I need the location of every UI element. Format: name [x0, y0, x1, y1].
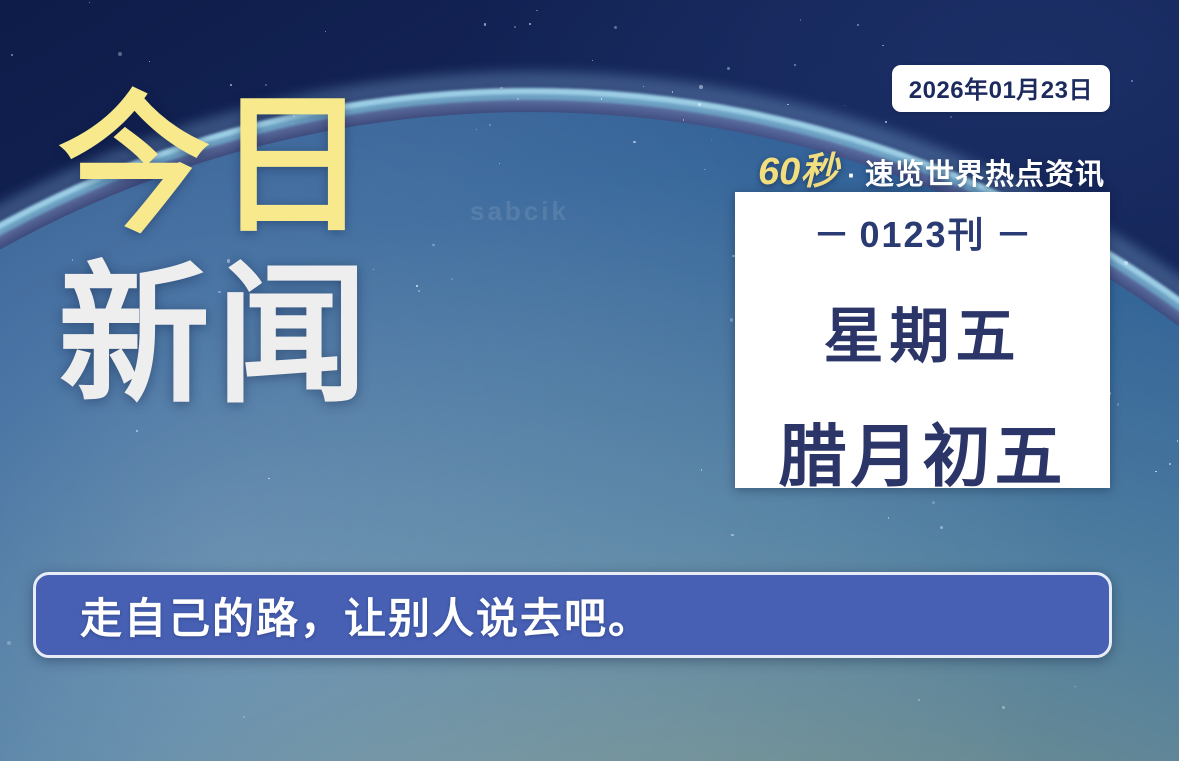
- star-dot: [885, 121, 887, 123]
- star-dot: [500, 87, 502, 89]
- star-dot: [643, 86, 644, 87]
- star-dot: [857, 24, 859, 26]
- star-dot: [536, 10, 538, 12]
- star-dot: [1131, 80, 1133, 82]
- star-dot: [614, 26, 617, 29]
- star-dot: [731, 534, 733, 536]
- quote-bar: 走自己的路，让别人说去吧。: [33, 572, 1112, 658]
- star-dot: [794, 64, 796, 66]
- tagline-duration: 60秒: [758, 140, 838, 195]
- star-dot: [699, 85, 703, 89]
- lunar-date-label: 腊月初五: [778, 401, 1066, 500]
- news-poster: sabcik 今日 新闻 2026年01月23日 60秒 · 速览世界热点资讯 …: [0, 0, 1179, 761]
- star-dot: [1124, 261, 1128, 265]
- title-line-xinwen: 新闻: [58, 266, 374, 406]
- star-dot: [711, 140, 712, 141]
- tagline-description: 速览世界热点资讯: [865, 151, 1105, 193]
- star-dot: [800, 19, 802, 21]
- star-dot: [11, 54, 13, 56]
- star-dot: [787, 104, 788, 105]
- tagline-separator: ·: [842, 160, 861, 191]
- star-dot: [1177, 440, 1178, 441]
- star-dot: [499, 163, 500, 164]
- issue-info-card: －0123刊－ 星期五 腊月初五: [735, 192, 1110, 488]
- star-dot: [418, 290, 420, 292]
- issue-number: 0123刊: [859, 214, 985, 255]
- poster-title: 今日 新闻: [58, 96, 374, 406]
- star-dot: [701, 469, 703, 471]
- star-dot: [1169, 463, 1170, 464]
- star-dot: [268, 478, 269, 479]
- star-dot: [136, 430, 139, 433]
- star-dot: [601, 98, 603, 100]
- star-dot: [7, 641, 11, 645]
- star-dot: [932, 501, 935, 504]
- star-dot: [484, 23, 486, 25]
- star-dot: [514, 26, 517, 29]
- star-dot: [888, 517, 889, 518]
- star-dot: [918, 699, 920, 701]
- star-dot: [683, 119, 685, 121]
- weekday-label: 星期五: [824, 288, 1022, 375]
- star-dot: [844, 105, 845, 106]
- star-dot: [704, 169, 706, 171]
- star-dot: [730, 318, 734, 322]
- star-dot: [727, 67, 730, 70]
- star-dot: [1002, 706, 1005, 709]
- star-dot: [451, 278, 453, 280]
- watermark-text: sabcik: [470, 196, 569, 227]
- star-dot: [592, 60, 593, 61]
- star-dot: [1117, 403, 1119, 405]
- issue-row: －0123刊－: [803, 206, 1041, 258]
- issue-dash-right: －: [986, 214, 1042, 255]
- star-dot: [529, 23, 531, 25]
- star-dot: [149, 61, 150, 62]
- star-dot: [89, 2, 90, 3]
- star-dot: [243, 716, 245, 718]
- star-dot: [476, 129, 478, 131]
- star-dot: [1155, 471, 1156, 472]
- star-dot: [950, 116, 952, 118]
- star-dot: [489, 124, 491, 126]
- star-dot: [698, 103, 701, 106]
- star-dot: [517, 98, 519, 100]
- issue-dash-left: －: [803, 214, 859, 255]
- star-dot: [416, 285, 417, 286]
- star-dot: [118, 52, 122, 56]
- star-dot: [882, 45, 884, 47]
- date-badge: 2026年01月23日: [892, 65, 1110, 112]
- star-dot: [1074, 686, 1076, 688]
- star-dot: [940, 526, 943, 529]
- star-dot: [325, 31, 326, 32]
- title-line-jinri: 今日: [58, 96, 374, 236]
- star-dot: [432, 244, 435, 247]
- tagline: 60秒 · 速览世界热点资讯: [758, 140, 1105, 195]
- star-dot: [672, 91, 674, 93]
- star-dot: [633, 141, 636, 144]
- quote-text: 走自己的路，让别人说去吧。: [80, 585, 652, 646]
